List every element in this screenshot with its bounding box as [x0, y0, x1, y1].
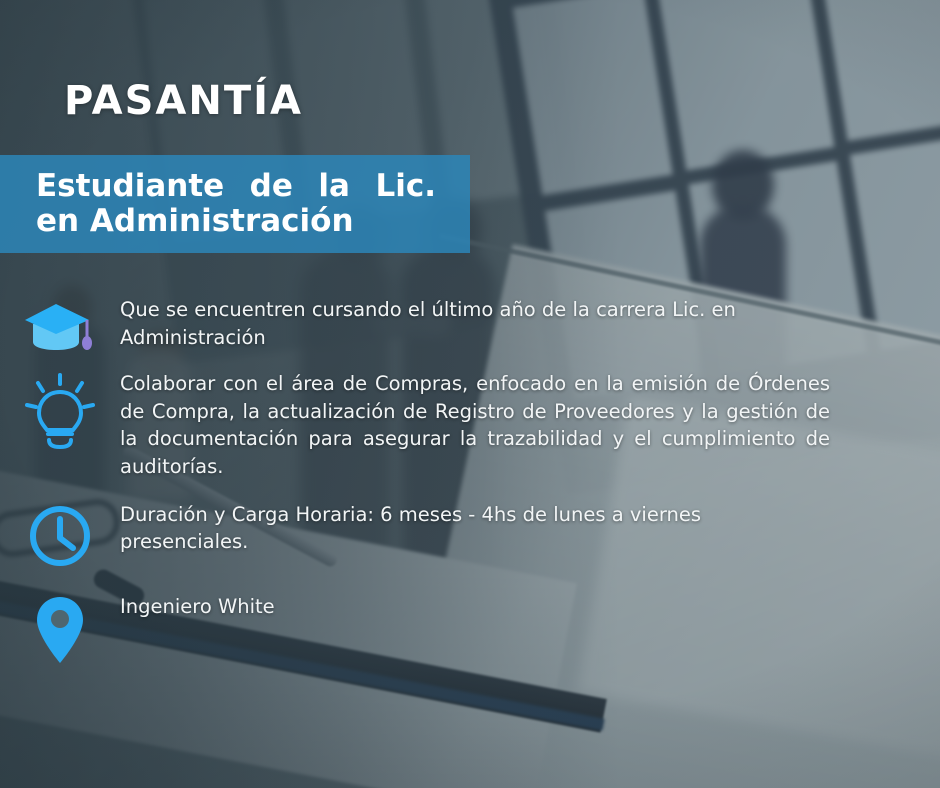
clock-icon [0, 501, 120, 569]
subtitle-line-2: en Administración [36, 204, 436, 239]
list-item-text: Ingeniero White [120, 593, 830, 621]
page-title: PASANTÍA [64, 78, 303, 124]
poster-content: PASANTÍA Estudiante de la Lic. en Admini… [0, 0, 940, 788]
subtitle-banner: Estudiante de la Lic. en Administración [0, 155, 470, 253]
graduation-cap-icon [0, 296, 120, 354]
list-item: Duración y Carga Horaria: 6 meses - 4hs … [0, 501, 940, 569]
list-item-text: Duración y Carga Horaria: 6 meses - 4hs … [120, 501, 830, 556]
list-item-text: Que se encuentren cursando el último año… [120, 296, 830, 351]
list-item-text: Colaborar con el área de Compras, enfoca… [120, 370, 830, 481]
lightbulb-icon [0, 370, 120, 452]
subtitle-word-2: de [250, 169, 293, 204]
bullet-list: Que se encuentren cursando el último año… [0, 296, 940, 685]
subtitle-word-3: la [318, 169, 350, 204]
subtitle-word-1: Estudiante [36, 169, 224, 204]
list-item: Colaborar con el área de Compras, enfoca… [0, 370, 940, 481]
location-pin-icon [0, 593, 120, 667]
subtitle-word-4: Lic. [375, 169, 436, 204]
subtitle-line-1: Estudiante de la Lic. [36, 169, 436, 204]
pasantia-poster: PASANTÍA Estudiante de la Lic. en Admini… [0, 0, 940, 788]
list-item: Que se encuentren cursando el último año… [0, 296, 940, 354]
list-item: Ingeniero White [0, 593, 940, 667]
